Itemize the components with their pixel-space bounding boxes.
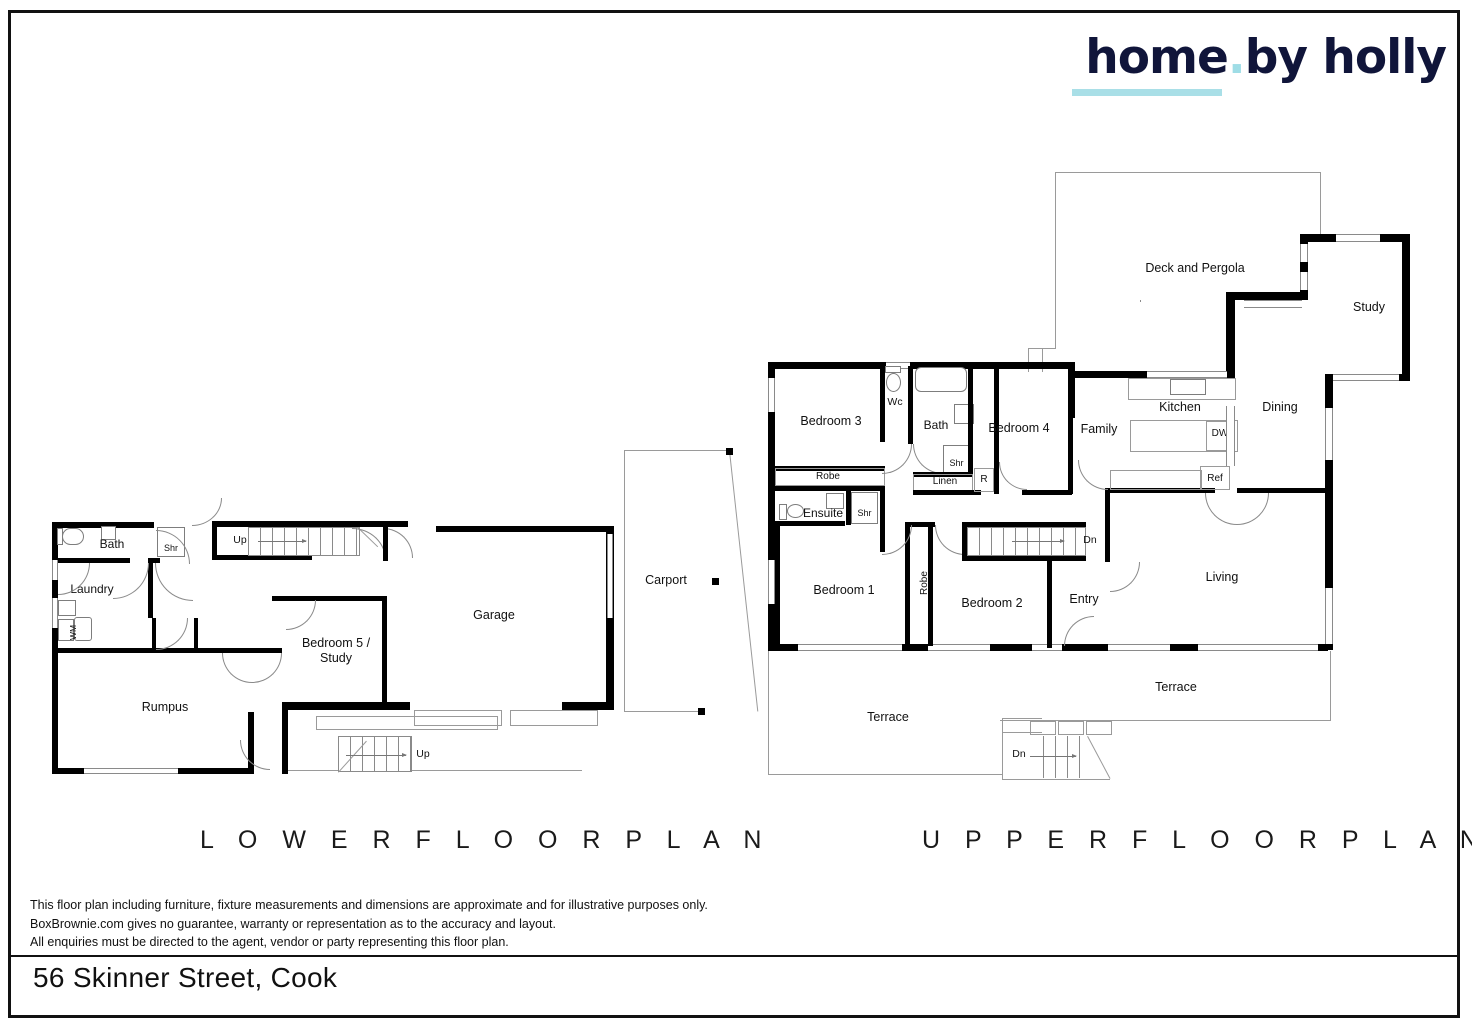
upper-room-label-r: R bbox=[974, 474, 994, 485]
balustrade-panel bbox=[1030, 721, 1056, 735]
wall bbox=[1047, 560, 1052, 648]
wall bbox=[846, 491, 851, 525]
carport-outline bbox=[624, 450, 625, 712]
brand-name-part1: home bbox=[1085, 30, 1228, 85]
window bbox=[1325, 588, 1333, 644]
door-swing bbox=[935, 525, 965, 555]
upper-room-label-study: Study bbox=[1340, 300, 1398, 315]
door-swing bbox=[113, 563, 149, 599]
door-swing bbox=[240, 740, 270, 770]
window bbox=[1325, 408, 1333, 460]
lower-stair-label-up-bottom: Up bbox=[412, 748, 434, 760]
toilet-icon bbox=[779, 504, 787, 520]
window bbox=[1140, 300, 1141, 302]
upper-room-label-shr-ensuite: Shr bbox=[851, 508, 878, 518]
floor-plan-page: home.by holly Bath Shr bbox=[0, 0, 1472, 1029]
brand-underline bbox=[1072, 89, 1222, 96]
upper-room-label-terrace-right: Terrace bbox=[1146, 680, 1206, 695]
door-swing bbox=[1110, 562, 1140, 592]
wall bbox=[1300, 234, 1336, 242]
door-swing bbox=[1237, 493, 1269, 525]
window bbox=[1198, 644, 1318, 651]
lower-stair-label-up-top: Up bbox=[229, 534, 251, 546]
upper-room-label-deck: Deck and Pergola bbox=[1140, 261, 1250, 276]
window bbox=[1108, 644, 1170, 651]
wall bbox=[52, 768, 84, 774]
window bbox=[768, 378, 775, 412]
kitchen-bench-lower bbox=[1110, 470, 1202, 490]
balustrade-panel bbox=[1086, 721, 1112, 735]
lower-room-label-rumpus: Rumpus bbox=[120, 700, 210, 715]
window bbox=[1226, 406, 1235, 466]
wall bbox=[1022, 490, 1072, 495]
garage-door-panel bbox=[414, 710, 502, 726]
carport-outline bbox=[624, 711, 702, 712]
wall bbox=[436, 526, 614, 532]
terrace-outline bbox=[1330, 651, 1331, 721]
upper-room-label-ensuite: Ensuite bbox=[797, 506, 849, 520]
disclaimer-line-3: All enquiries must be directed to the ag… bbox=[30, 933, 790, 952]
upper-room-label-family: Family bbox=[1073, 422, 1125, 437]
upper-room-label-dining: Dining bbox=[1250, 400, 1310, 415]
window bbox=[84, 768, 178, 774]
upper-room-label-bedroom4: Bedroom 4 bbox=[980, 421, 1058, 436]
toilet-icon bbox=[885, 366, 901, 373]
disclaimer-line-2: BoxBrownie.com gives no guarantee, warra… bbox=[30, 915, 790, 934]
upper-room-label-entry: Entry bbox=[1060, 592, 1108, 607]
window bbox=[1336, 234, 1380, 242]
lower-room-label-wm: WM bbox=[68, 625, 78, 640]
deck-outline bbox=[1055, 172, 1320, 173]
door-swing bbox=[252, 653, 282, 683]
wall bbox=[994, 366, 999, 472]
door-swing bbox=[352, 528, 386, 560]
wall bbox=[52, 648, 152, 653]
terrace-stair-outline bbox=[1002, 779, 1110, 780]
wall bbox=[775, 525, 780, 647]
window bbox=[607, 534, 613, 618]
wall bbox=[1226, 300, 1235, 378]
window bbox=[1244, 300, 1302, 308]
lower-room-label-bath: Bath bbox=[92, 537, 132, 551]
wall bbox=[768, 362, 888, 369]
door-swing bbox=[1205, 493, 1237, 525]
stair-direction-arrow bbox=[1030, 756, 1076, 757]
balustrade-panel bbox=[1058, 721, 1084, 735]
brand-dot: . bbox=[1228, 30, 1245, 85]
address-divider bbox=[10, 955, 1458, 957]
lower-room-label-carport: Carport bbox=[626, 573, 706, 588]
door-swing bbox=[1064, 616, 1094, 646]
upper-room-label-living: Living bbox=[1192, 570, 1252, 585]
wall bbox=[212, 527, 217, 560]
upper-room-label-bath: Bath bbox=[918, 418, 954, 432]
window bbox=[1300, 272, 1308, 290]
stair-direction-arrow bbox=[1012, 541, 1064, 542]
upper-room-label-shr-bath: Shr bbox=[943, 458, 970, 468]
wall bbox=[382, 596, 387, 706]
window bbox=[1300, 244, 1308, 262]
wall bbox=[968, 366, 973, 476]
carport-outline bbox=[729, 451, 758, 712]
deck-outline bbox=[1320, 172, 1321, 240]
stair-direction-arrow bbox=[258, 541, 306, 542]
door-swing bbox=[882, 444, 912, 474]
stair-edge bbox=[288, 770, 582, 771]
wall bbox=[908, 366, 913, 444]
staircase-treads bbox=[338, 736, 412, 772]
door-swing bbox=[222, 653, 252, 683]
staircase-treads bbox=[1032, 736, 1088, 778]
terrace-stair-outline bbox=[1002, 718, 1042, 719]
wall bbox=[1105, 492, 1110, 562]
brand-name-part2: by holly bbox=[1245, 30, 1446, 85]
wall bbox=[178, 768, 248, 774]
bathtub-icon bbox=[915, 367, 967, 392]
lower-bedroom5-line2: Study bbox=[320, 651, 352, 665]
door-swing bbox=[156, 618, 188, 650]
upper-floor-plan-title: U P P E R F L O O R P L A N bbox=[922, 826, 1472, 855]
lower-bedroom5-line1: Bedroom 5 / bbox=[302, 636, 370, 650]
upper-room-label-linen: Linen bbox=[925, 476, 965, 487]
upper-room-label-wc: Wc bbox=[882, 396, 908, 408]
upper-stair-label-dn-main: Dn bbox=[1079, 534, 1101, 546]
door-swing bbox=[155, 563, 193, 601]
upper-room-label-bedroom1: Bedroom 1 bbox=[800, 583, 888, 598]
upper-room-label-bedroom2: Bedroom 2 bbox=[954, 596, 1030, 611]
wall bbox=[282, 702, 410, 710]
wall bbox=[1402, 234, 1410, 380]
door-swing bbox=[913, 444, 943, 474]
wall bbox=[1068, 371, 1148, 378]
upper-room-label-terrace-left: Terrace bbox=[858, 710, 918, 725]
window bbox=[798, 644, 902, 651]
wall bbox=[1325, 374, 1333, 408]
terrace-stair-outline bbox=[1002, 718, 1003, 780]
toilet-icon bbox=[62, 528, 84, 545]
upper-stair-label-dn-terrace: Dn bbox=[1008, 748, 1030, 760]
brand-logo: home.by holly bbox=[1066, 32, 1446, 112]
deck-outline bbox=[1055, 172, 1056, 348]
carport-post bbox=[698, 708, 705, 715]
upper-room-label-bedroom3: Bedroom 3 bbox=[787, 414, 875, 429]
upper-room-label-robe-vertical: Robe bbox=[919, 571, 930, 595]
wall bbox=[1226, 292, 1308, 300]
window bbox=[1333, 374, 1399, 381]
window bbox=[928, 644, 990, 651]
terrace-outline bbox=[768, 774, 1002, 775]
window bbox=[768, 560, 775, 604]
lower-room-label-bedroom5: Bedroom 5 / Study bbox=[290, 636, 382, 666]
door-swing bbox=[286, 600, 316, 630]
wall bbox=[913, 490, 981, 495]
stair-direction-arrow bbox=[346, 755, 406, 756]
garage-door-panel bbox=[510, 710, 598, 726]
carport-post bbox=[726, 448, 733, 455]
wall bbox=[775, 521, 845, 526]
upper-room-label-ref: Ref bbox=[1200, 473, 1230, 484]
wall bbox=[282, 702, 288, 774]
upper-room-label-kitchen: Kitchen bbox=[1145, 400, 1215, 415]
wall bbox=[775, 486, 885, 491]
disclaimer-text: This floor plan including furniture, fix… bbox=[30, 896, 790, 952]
wall bbox=[962, 556, 1086, 561]
disclaimer-line-1: This floor plan including furniture, fix… bbox=[30, 896, 790, 915]
wall bbox=[194, 618, 198, 652]
wall bbox=[880, 491, 885, 525]
stair-stringer bbox=[1087, 736, 1110, 779]
window bbox=[1147, 371, 1227, 378]
terrace-outline bbox=[768, 651, 769, 775]
property-address: 56 Skinner Street, Cook bbox=[33, 962, 337, 994]
upper-room-label-robe-top: Robe bbox=[805, 471, 851, 482]
cistern-icon bbox=[57, 528, 63, 545]
laundry-sink-icon bbox=[58, 600, 76, 616]
lower-floor-plan-title: L O W E R F L O O R P L A N bbox=[200, 826, 770, 855]
brand-logo-text: home.by holly bbox=[1066, 32, 1446, 84]
door-swing bbox=[999, 462, 1027, 490]
wall bbox=[383, 527, 388, 561]
toilet-icon bbox=[886, 373, 901, 392]
sink-icon bbox=[1170, 379, 1206, 395]
lower-room-label-garage: Garage bbox=[452, 608, 536, 623]
wall bbox=[994, 468, 999, 494]
carport-post bbox=[712, 578, 719, 585]
carport-outline bbox=[624, 450, 730, 451]
door-swing bbox=[1078, 460, 1108, 490]
